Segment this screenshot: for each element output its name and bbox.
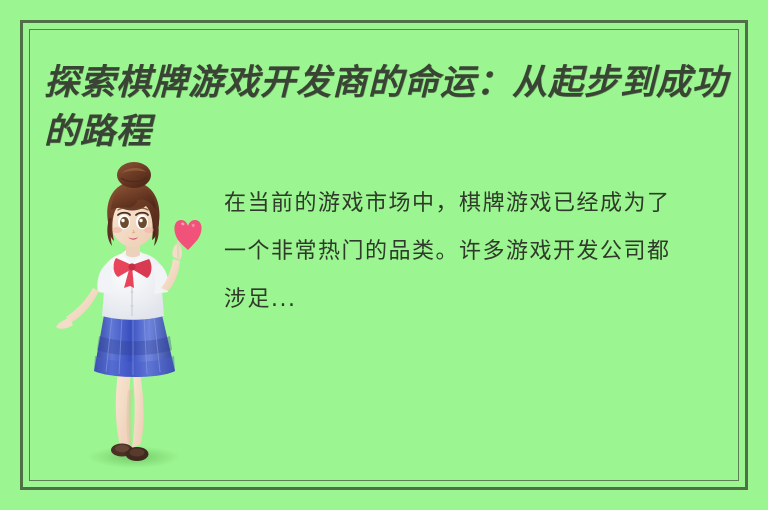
page-title: 探索棋牌游戏开发商的命运：从起步到成功的路程 (44, 58, 734, 156)
leg-right (132, 365, 144, 448)
poster-canvas: 探索棋牌游戏开发商的命运：从起步到成功的路程 在当前的游戏市场中，棋牌游戏已经成… (0, 0, 768, 510)
schoolgirl-svg (42, 160, 232, 480)
heart-lollipop (174, 220, 201, 260)
illustration-schoolgirl (42, 160, 232, 480)
hair-bun (117, 162, 151, 188)
hand-left (56, 318, 73, 329)
arm-left (66, 288, 99, 323)
article-excerpt: 在当前的游戏市场中，棋牌游戏已经成为了一个非常热门的品类。许多游戏开发公司都涉足… (224, 180, 674, 324)
